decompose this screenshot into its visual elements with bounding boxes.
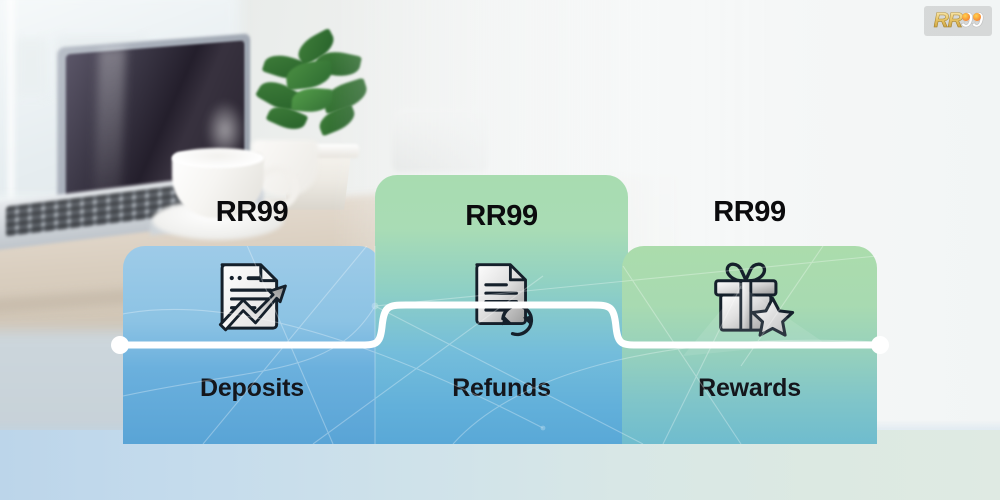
card-refunds[interactable]: RR99 xyxy=(375,175,628,444)
card-refunds-brand-label: RR99 xyxy=(375,200,628,233)
document-refresh-icon xyxy=(375,254,628,346)
card-deposits-title: Deposits xyxy=(123,374,381,403)
card-rewards-brand-label: RR99 xyxy=(622,196,877,229)
feature-card-group: RR99 xyxy=(0,0,1000,500)
card-deposits-brand-label: RR99 xyxy=(123,196,381,229)
card-rewards-title: Rewards xyxy=(622,374,877,403)
banner-root: RR 99 RR99 xyxy=(0,0,1000,500)
gift-star-icon xyxy=(622,254,877,346)
card-deposits[interactable]: RR99 xyxy=(123,246,381,444)
document-chart-up-icon xyxy=(123,254,381,346)
card-rewards[interactable]: RR99 xyxy=(622,246,877,444)
card-refunds-title: Refunds xyxy=(375,374,628,403)
